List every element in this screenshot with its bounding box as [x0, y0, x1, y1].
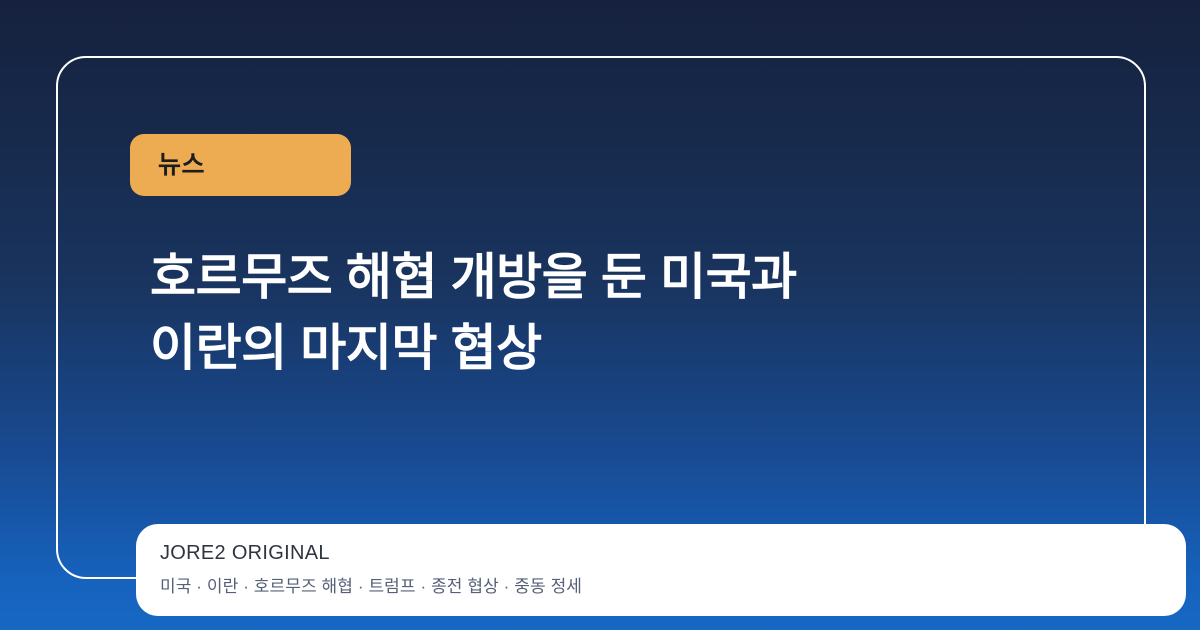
headline: 호르무즈 해협 개방을 둔 미국과 이란의 마지막 협상 — [150, 242, 1080, 384]
headline-line-1: 호르무즈 해협 개방을 둔 미국과 — [150, 242, 1080, 313]
tag-list: 미국 · 이란 · 호르무즈 해협 · 트럼프 · 종전 협상 · 중동 정세 — [160, 576, 1186, 599]
category-badge[interactable]: 뉴스 — [130, 134, 351, 196]
source-label: JORE2 ORIGINAL — [160, 540, 1186, 567]
news-card-frame: 뉴스 호르무즈 해협 개방을 둔 미국과 이란의 마지막 협상 JORE2 OR… — [56, 56, 1146, 579]
category-badge-label: 뉴스 — [130, 153, 205, 178]
headline-line-2: 이란의 마지막 협상 — [150, 313, 1080, 384]
meta-card: JORE2 ORIGINAL 미국 · 이란 · 호르무즈 해협 · 트럼프 ·… — [136, 524, 1186, 616]
